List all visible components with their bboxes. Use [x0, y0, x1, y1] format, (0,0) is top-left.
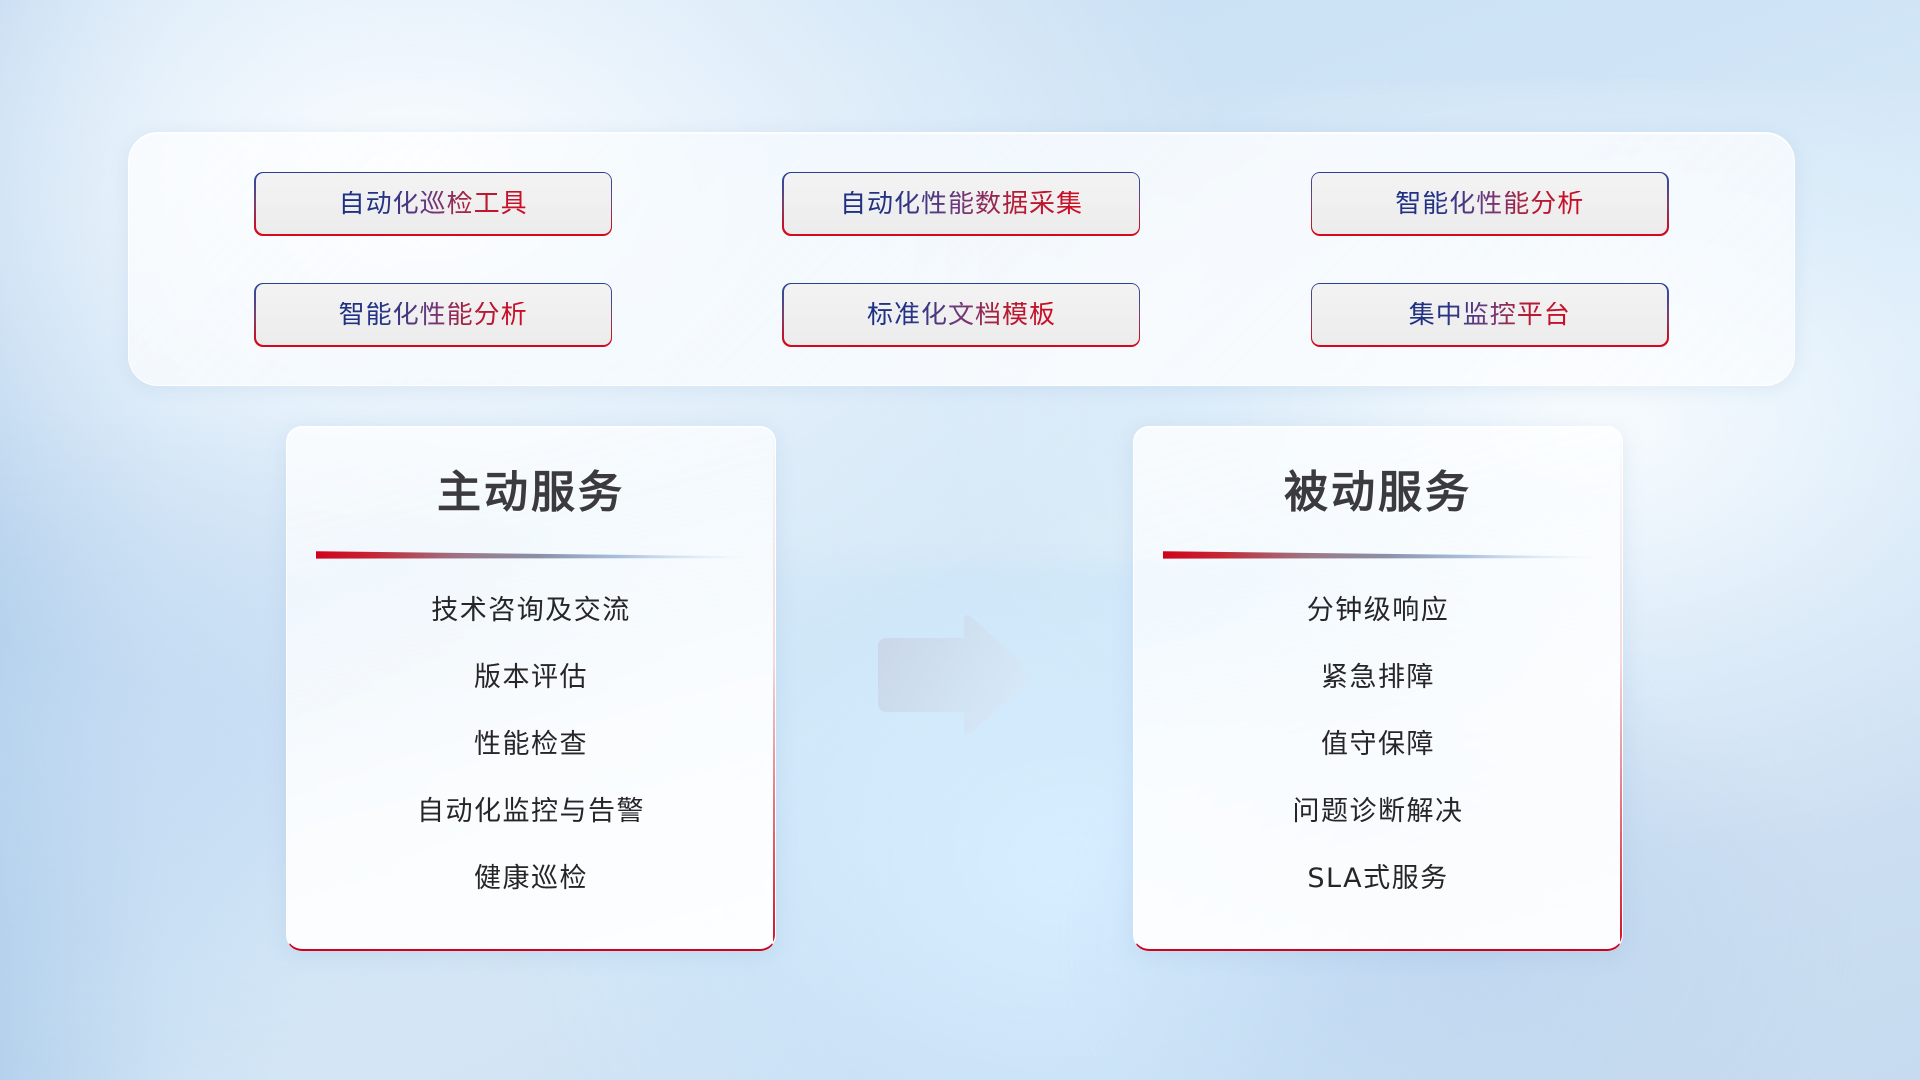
capability-tag-standardized-document-template[interactable]: 标准化文档模板: [782, 283, 1140, 347]
capability-tag-surface: 标准化文档模板: [784, 284, 1139, 345]
capability-tag-automated-performance-data-collection[interactable]: 自动化性能数据采集: [782, 172, 1140, 236]
capability-tag-label: 集中监控平台: [1409, 302, 1571, 328]
list-item[interactable]: 版本评估: [287, 664, 775, 691]
slide-canvas: 自动化巡检工具 自动化性能数据采集 智能化性能分析 智能化性能分析: [0, 0, 1920, 1080]
capability-tags-panel: 自动化巡检工具 自动化性能数据采集 智能化性能分析 智能化性能分析: [128, 132, 1795, 386]
list-item[interactable]: 紧急排障: [1134, 664, 1622, 691]
right-arrow-icon: [868, 611, 1036, 741]
capability-tag-automated-inspection-tool[interactable]: 自动化巡检工具: [254, 172, 612, 236]
proactive-service-card-title: 主动服务: [287, 471, 775, 515]
capability-tag-surface: 自动化巡检工具: [256, 173, 611, 234]
list-item[interactable]: 分钟级响应: [1134, 597, 1622, 624]
card-divider-right: [1163, 549, 1593, 563]
list-item[interactable]: SLA式服务: [1134, 865, 1622, 892]
list-item[interactable]: 健康巡检: [287, 865, 775, 892]
reactive-service-card[interactable]: 被动服务 分钟级响应 紧急排障: [1133, 426, 1623, 951]
capability-tags-grid: 自动化巡检工具 自动化性能数据采集 智能化性能分析 智能化性能分析: [129, 133, 1794, 385]
reactive-service-item-list: 分钟级响应 紧急排障 值守保障 问题诊断解决 SLA式服务: [1134, 597, 1622, 892]
capability-tag-intelligent-performance-analysis-top[interactable]: 智能化性能分析: [1311, 172, 1669, 236]
capability-tag-centralized-monitoring-platform[interactable]: 集中监控平台: [1311, 283, 1669, 347]
reactive-service-card-title: 被动服务: [1134, 471, 1622, 515]
capability-tag-surface: 自动化性能数据采集: [784, 173, 1139, 234]
card-divider-left: [316, 549, 746, 563]
list-item[interactable]: 自动化监控与告警: [287, 798, 775, 825]
capability-tag-surface: 智能化性能分析: [256, 284, 611, 345]
capability-tag-label: 标准化文档模板: [867, 302, 1056, 328]
capability-tag-label: 智能化性能分析: [1395, 191, 1584, 217]
capability-tag-surface: 智能化性能分析: [1312, 173, 1667, 234]
capability-tag-label: 自动化性能数据采集: [840, 191, 1083, 217]
list-item[interactable]: 技术咨询及交流: [287, 597, 775, 624]
proactive-service-card[interactable]: 主动服务 技术咨询及交流 版本评估: [286, 426, 776, 951]
proactive-service-item-list: 技术咨询及交流 版本评估 性能检查 自动化监控与告警 健康巡检: [287, 597, 775, 892]
capability-tag-intelligent-performance-analysis-bottom[interactable]: 智能化性能分析: [254, 283, 612, 347]
list-item[interactable]: 性能检查: [287, 731, 775, 758]
capability-tag-label: 自动化巡检工具: [339, 191, 528, 217]
list-item[interactable]: 问题诊断解决: [1134, 798, 1622, 825]
capability-tag-surface: 集中监控平台: [1312, 284, 1667, 345]
capability-tag-label: 智能化性能分析: [339, 302, 528, 328]
list-item[interactable]: 值守保障: [1134, 731, 1622, 758]
